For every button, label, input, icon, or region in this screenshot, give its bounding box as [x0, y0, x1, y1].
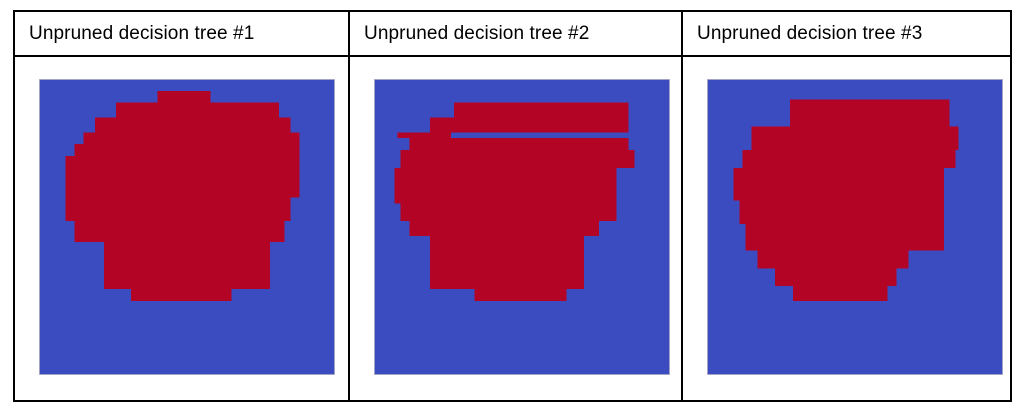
positive-class-region — [131, 289, 232, 301]
positive-class-region — [398, 132, 451, 138]
decision-boundary-svg-2 — [374, 79, 670, 375]
positive-class-region — [75, 221, 285, 242]
decision-boundary-svg-3 — [707, 79, 1003, 375]
positive-class-region — [83, 132, 299, 144]
positive-class-region — [790, 100, 950, 127]
positive-class-region — [740, 200, 944, 224]
positive-class-region — [104, 242, 270, 289]
table-header-cell-2: Unpruned decision tree #2 — [348, 12, 681, 55]
positive-class-region — [751, 126, 958, 150]
positive-class-region — [401, 150, 635, 168]
table-header-cell-3: Unpruned decision tree #3 — [681, 12, 1010, 55]
column-title-tree-2: Unpruned decision tree #2 — [364, 23, 589, 45]
table-body-row — [15, 57, 1010, 400]
decision-boundary-plot-2 — [374, 79, 670, 375]
positive-class-region — [757, 251, 908, 269]
positive-class-region — [395, 168, 617, 204]
table-body-cell-2 — [348, 57, 681, 400]
decision-boundary-svg-1 — [39, 79, 335, 375]
positive-class-region — [75, 144, 300, 156]
positive-class-region — [475, 289, 567, 301]
decision-boundary-plot-1 — [39, 79, 335, 375]
column-title-tree-3: Unpruned decision tree #3 — [697, 23, 922, 45]
positive-class-region — [793, 286, 888, 301]
table-header-cell-1: Unpruned decision tree #1 — [15, 12, 348, 55]
positive-class-region — [66, 156, 300, 197]
comparison-table: Unpruned decision tree #1 Unpruned decis… — [13, 10, 1012, 402]
column-title-tree-1: Unpruned decision tree #1 — [29, 23, 254, 45]
table-header-row: Unpruned decision tree #1 Unpruned decis… — [15, 12, 1010, 57]
decision-boundary-plot-3 — [707, 79, 1003, 375]
positive-class-region — [157, 91, 210, 103]
positive-class-region — [410, 138, 629, 150]
positive-class-region — [116, 103, 279, 118]
positive-class-region — [743, 150, 956, 168]
table-body-cell-1 — [15, 57, 348, 400]
positive-class-region — [775, 268, 896, 286]
figure-canvas: Unpruned decision tree #1 Unpruned decis… — [0, 0, 1028, 418]
positive-class-region — [410, 221, 599, 236]
positive-class-region — [430, 117, 628, 132]
positive-class-region — [95, 117, 290, 132]
table-body-cell-3 — [681, 57, 1010, 400]
positive-class-region — [734, 168, 944, 201]
positive-class-region — [454, 103, 629, 118]
positive-class-region — [66, 197, 291, 221]
positive-class-region — [430, 236, 584, 289]
positive-class-region — [745, 224, 943, 251]
positive-class-region — [401, 203, 617, 221]
